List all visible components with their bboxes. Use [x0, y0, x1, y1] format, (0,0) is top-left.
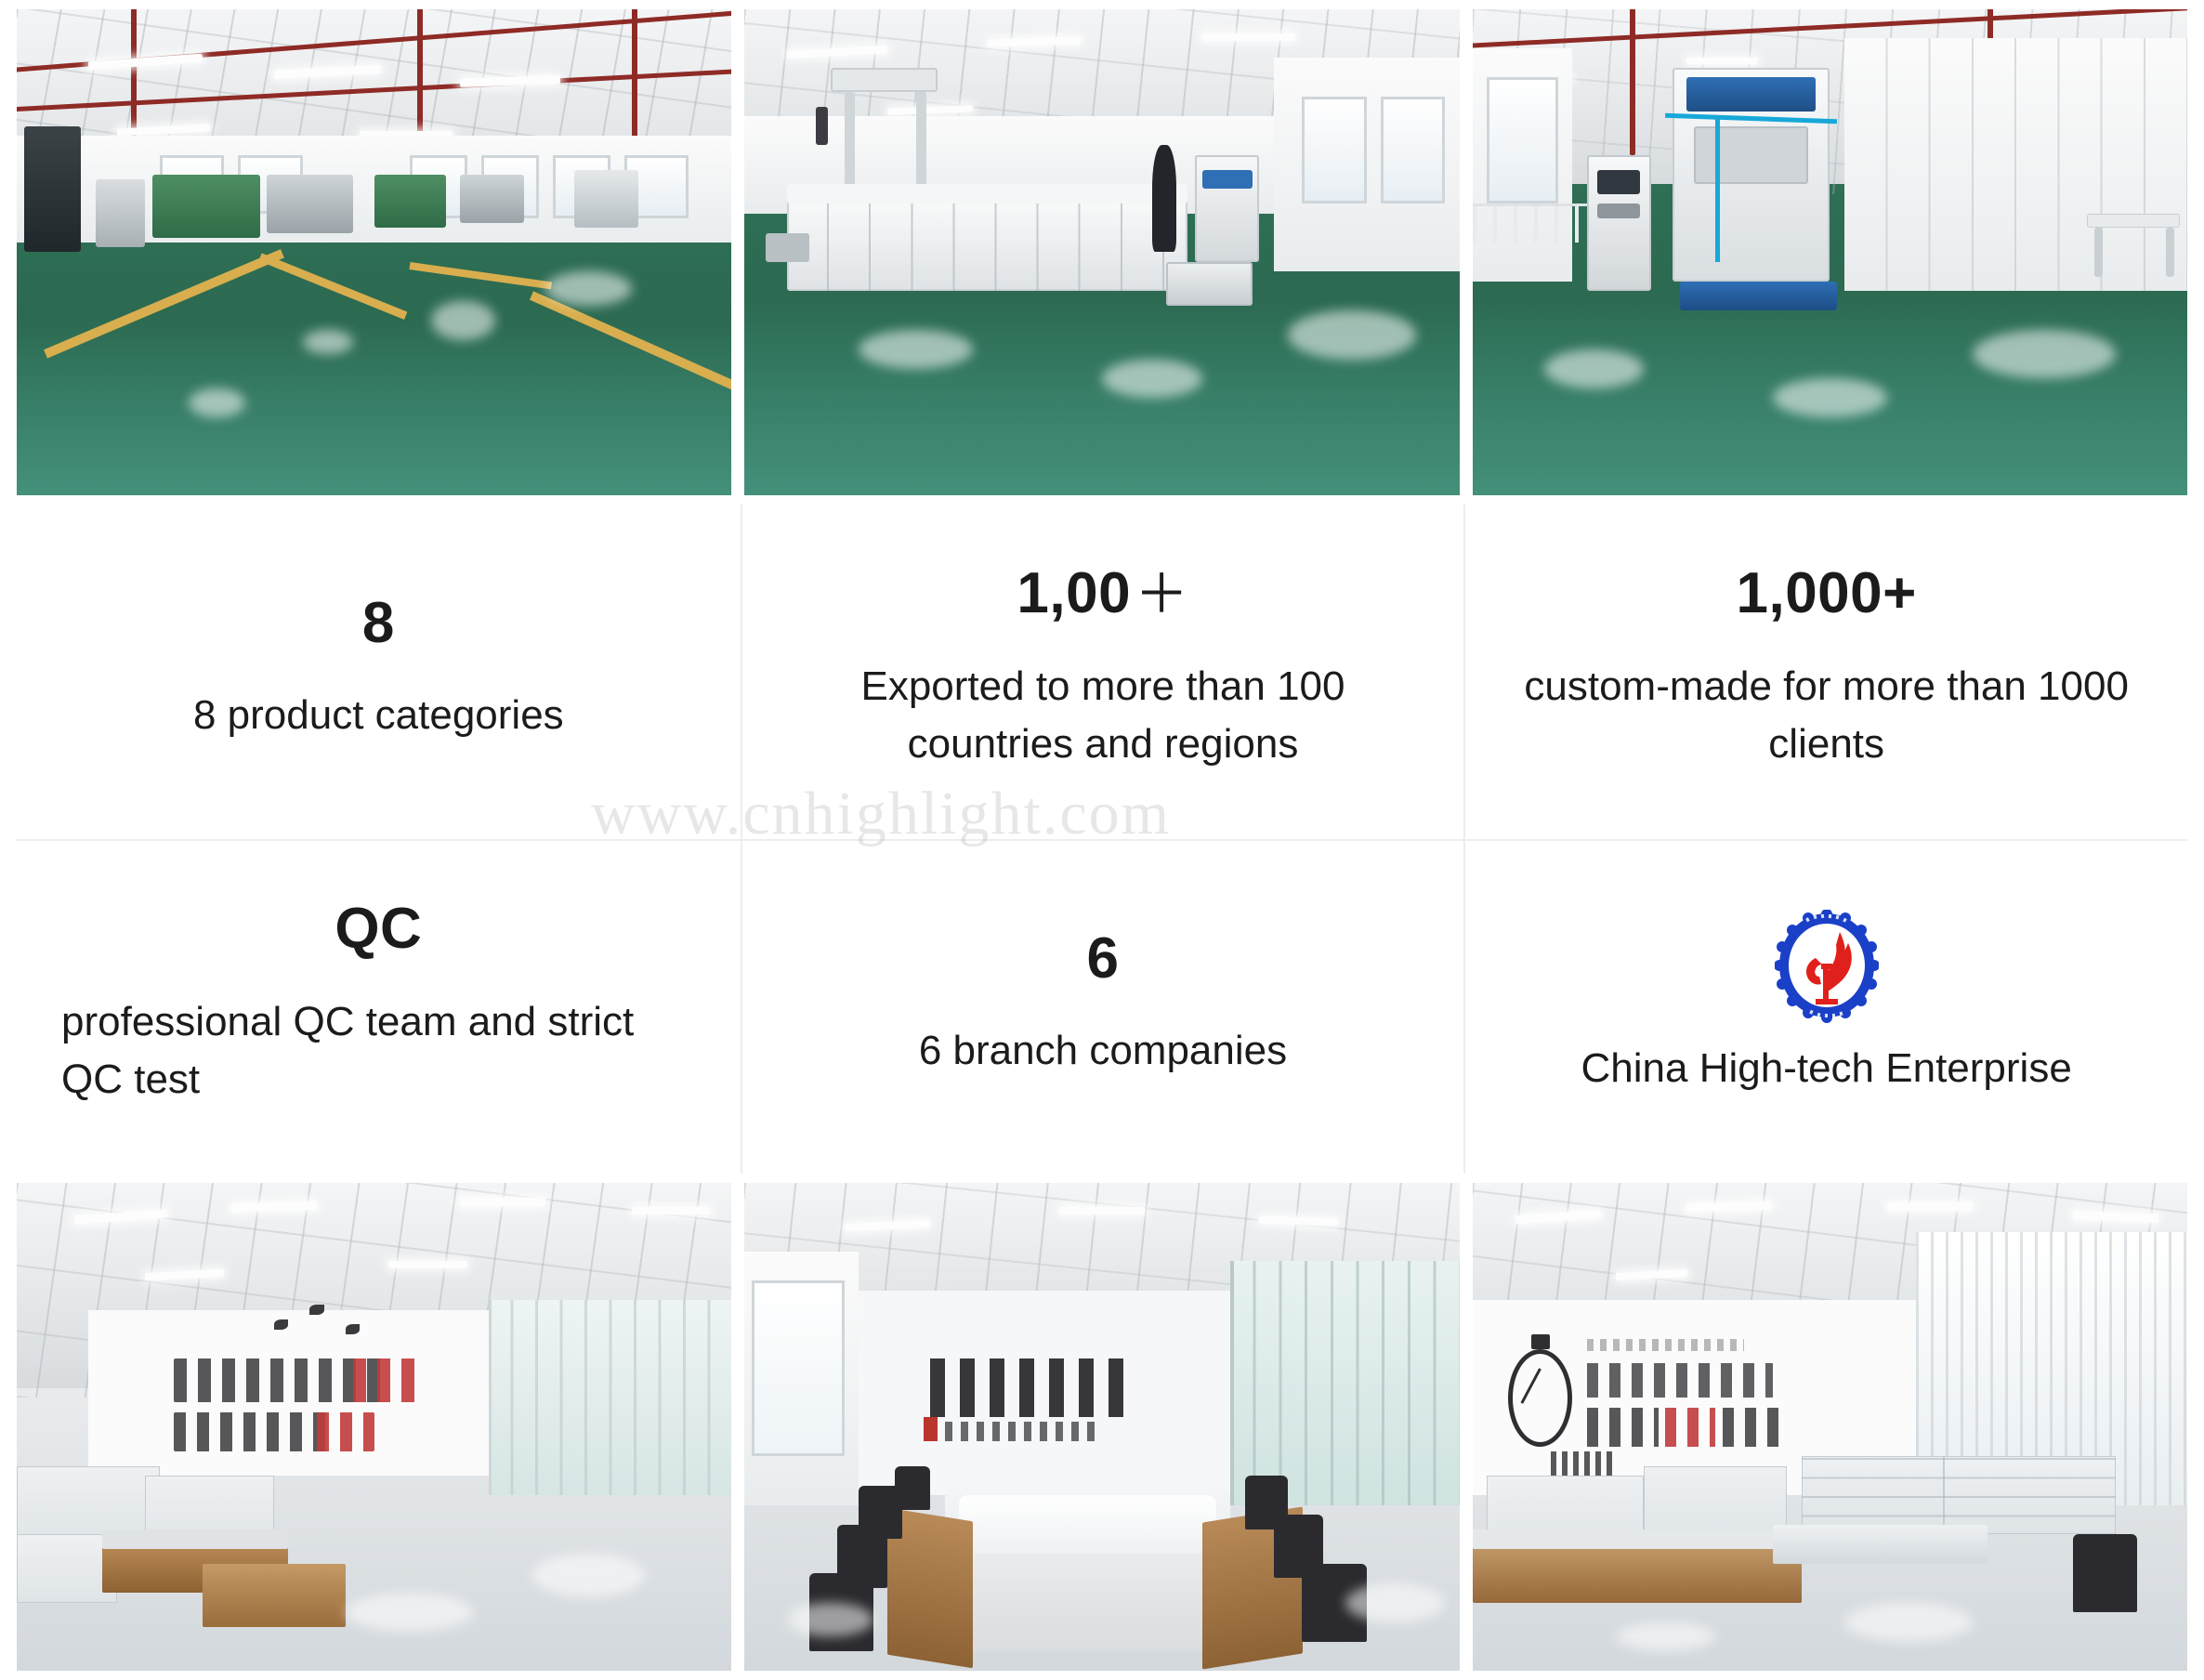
- photo-meeting-room: [744, 1183, 1459, 1671]
- photo-coating-equipment: [1473, 9, 2187, 495]
- plus-sign-icon: ＋: [1131, 564, 1189, 624]
- wall-lettering-line1: [1587, 1363, 1773, 1398]
- stat-value: 1,00＋: [1017, 562, 1188, 625]
- stat-value: QC: [335, 898, 422, 961]
- stopwatch-icon: [1508, 1349, 1572, 1447]
- photo-row-top: [17, 9, 2187, 495]
- stat-branch-companies: 6 6 branch companies: [741, 839, 1464, 1174]
- photo-workstation-area: [1473, 1183, 2187, 1671]
- calligraphy-wall-art: [930, 1358, 1130, 1417]
- stat-value: 8: [362, 592, 395, 655]
- stat-product-categories: 8 8 product categories: [17, 505, 741, 839]
- stat-export-countries: 1,00＋ Exported to more than 100 countrie…: [741, 505, 1464, 839]
- photo-open-office: [17, 1183, 731, 1671]
- stat-label: 8 product categories: [193, 687, 564, 744]
- wall-lettering-line2: [174, 1412, 331, 1451]
- stat-label: professional QC team and strict QC test: [61, 993, 696, 1109]
- stat-label: Exported to more than 100 countries and …: [787, 658, 1420, 774]
- china-high-tech-seal-icon: [1775, 910, 1879, 1023]
- stat-china-high-tech-enterprise: China High-tech Enterprise: [1463, 839, 2187, 1174]
- wall-lettering-highlight: [1665, 1408, 1715, 1447]
- photo-production-workshop: [17, 9, 731, 495]
- stat-value: 1,000+: [1736, 562, 1916, 625]
- stat-custom-made-clients: 1,000+ custom-made for more than 1000 cl…: [1463, 505, 2187, 839]
- stat-label: 6 branch companies: [919, 1022, 1287, 1080]
- stat-value-number: 1,00: [1017, 561, 1131, 625]
- stat-label: China High-tech Enterprise: [1581, 1040, 2072, 1097]
- stat-value: 6: [1087, 927, 1120, 991]
- stat-label: custom-made for more than 1000 clients: [1510, 658, 2143, 774]
- stats-grid: 8 8 product categories 1,00＋ Exported to…: [17, 505, 2187, 1174]
- photo-reflow-oven-line: [744, 9, 1459, 495]
- company-profile-banner: 8 8 product categories 1,00＋ Exported to…: [0, 0, 2204, 1680]
- wall-lettering-time: [1551, 1451, 1615, 1476]
- photo-row-bottom: [17, 1183, 2187, 1671]
- stat-qc-team: QC professional QC team and strict QC te…: [17, 839, 741, 1174]
